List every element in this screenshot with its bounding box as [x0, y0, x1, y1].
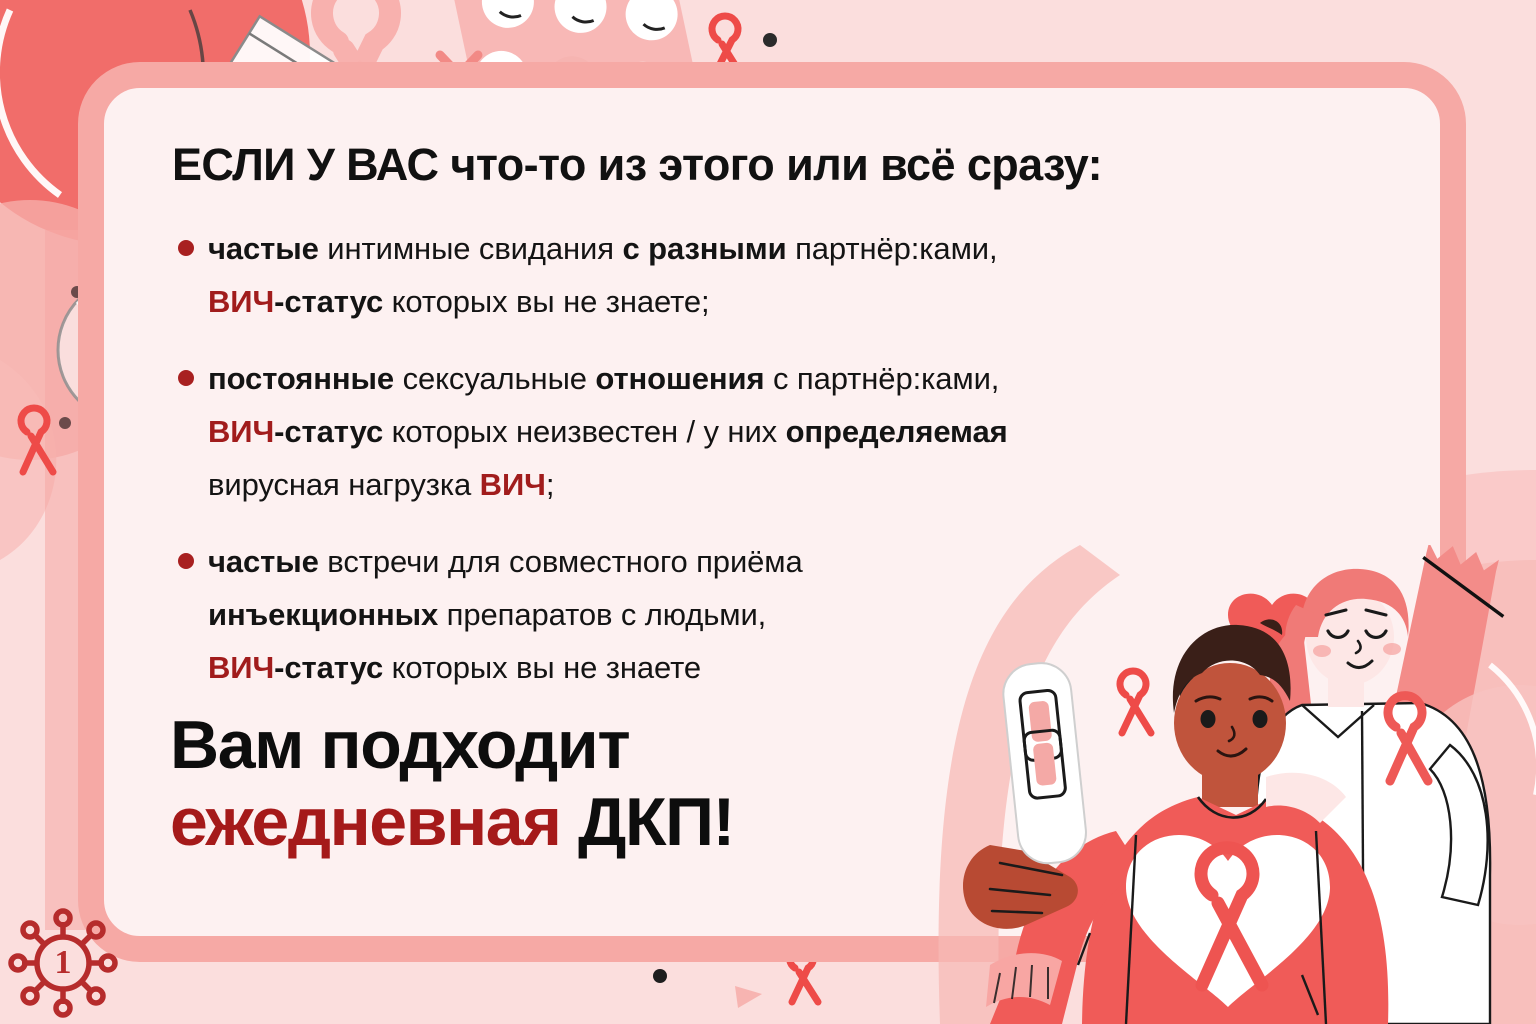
- segment-bold: отношения: [595, 361, 773, 396]
- list-item: постоянные сексуальные отношения с партн…: [178, 352, 1308, 511]
- segment-bold: постоянные: [208, 361, 403, 396]
- poster-canvas: ЕСЛИ У ВАС что-то из этого или всё сразу…: [0, 0, 1536, 1024]
- page-title-lead: ЕСЛИ У ВАС: [172, 139, 438, 190]
- page-title: ЕСЛИ У ВАС что-то из этого или всё сразу…: [172, 139, 1102, 191]
- risk-criteria-list: частые интимные свидания с разными партн…: [178, 222, 1308, 718]
- segment-regular: препаратов с людьми,: [447, 597, 767, 632]
- page-number-badge: 1: [8, 908, 118, 1018]
- segment-regular: ;: [546, 467, 555, 502]
- segment-regular: интимные свидания: [327, 231, 622, 266]
- page-number-value: 1: [8, 908, 118, 1018]
- poster-content: ЕСЛИ У ВАС что-то из этого или всё сразу…: [0, 0, 1536, 1024]
- segment-hiv: ВИЧ: [208, 414, 274, 449]
- segment-bold: -статус: [274, 284, 391, 319]
- cta-highlight: ежедневная: [170, 784, 560, 860]
- cta-line-1: Вам подходит: [170, 708, 734, 782]
- segment-hiv: ВИЧ: [208, 284, 274, 319]
- segment-regular: которых неизвестен / у них: [392, 414, 786, 449]
- segment-bold: инъекционных: [208, 597, 447, 632]
- segment-regular: с партнёр:ками,: [773, 361, 999, 396]
- cta-tail: ДКП!: [560, 784, 733, 860]
- list-item: частые интимные свидания с разными партн…: [178, 222, 1308, 328]
- call-to-action: Вам подходит ежедневная ДКП!: [170, 708, 734, 862]
- bullet-marker-icon: [178, 240, 194, 256]
- list-item-text: частые интимные свидания с разными партн…: [178, 222, 1308, 328]
- page-title-rest: что-то из этого или всё сразу:: [438, 139, 1102, 190]
- segment-regular: сексуальные: [403, 361, 596, 396]
- segment-bold: частые: [208, 544, 327, 579]
- segment-bold: -статус: [274, 650, 391, 685]
- bullet-marker-icon: [178, 553, 194, 569]
- list-item-text: частые встречи для совместного приёма ин…: [178, 535, 1308, 694]
- segment-regular: вирусная нагрузка: [208, 467, 480, 502]
- segment-regular: которых вы не знаете;: [392, 284, 710, 319]
- cta-line-2: ежедневная ДКП!: [170, 782, 734, 862]
- list-item-text: постоянные сексуальные отношения с партн…: [178, 352, 1308, 511]
- segment-bold: -статус: [274, 414, 391, 449]
- segment-bold: определяемая: [786, 414, 1008, 449]
- segment-regular: партнёр:ками,: [795, 231, 997, 266]
- bullet-marker-icon: [178, 370, 194, 386]
- segment-bold: частые: [208, 231, 327, 266]
- segment-hiv: ВИЧ: [480, 467, 546, 502]
- segment-bold: с разными: [622, 231, 795, 266]
- segment-regular: встречи для совместного приёма: [327, 544, 802, 579]
- segment-regular: которых вы не знаете: [392, 650, 701, 685]
- segment-hiv: ВИЧ: [208, 650, 274, 685]
- list-item: частые встречи для совместного приёма ин…: [178, 535, 1308, 694]
